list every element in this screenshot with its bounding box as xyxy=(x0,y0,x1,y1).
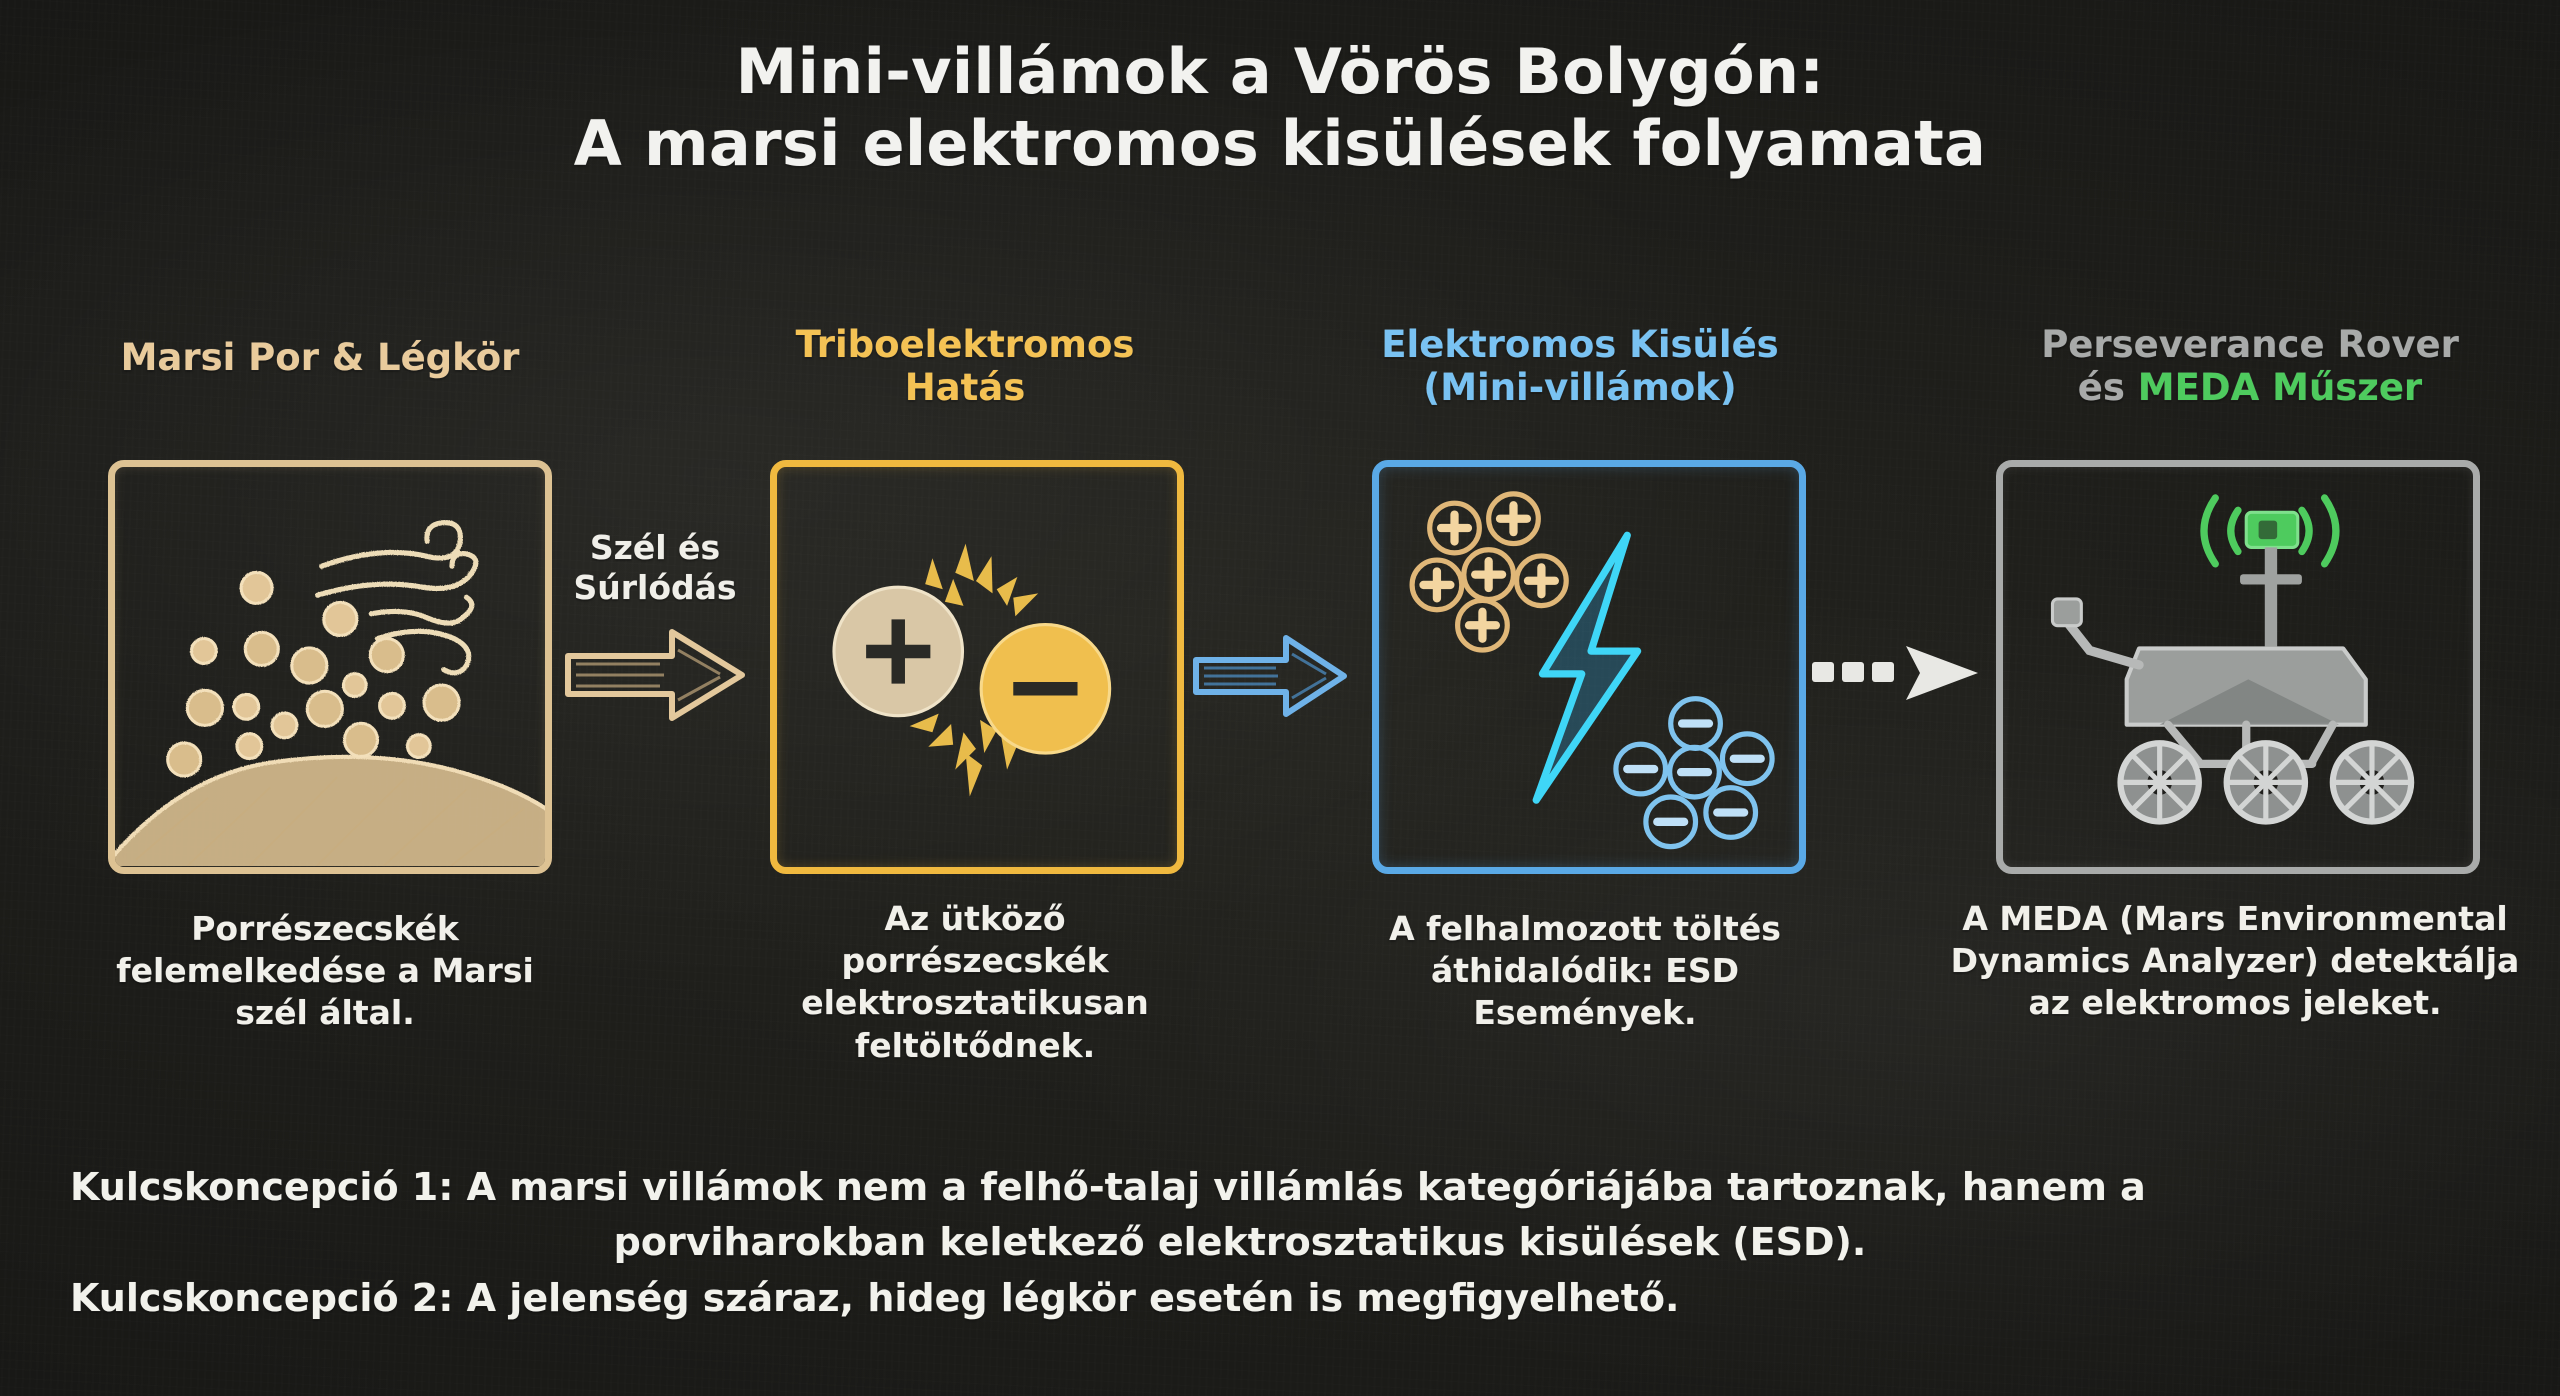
negative-charge-group xyxy=(1616,699,1772,847)
step-4-header-meda: MEDA Műszer xyxy=(2138,366,2422,409)
colliding-charged-particles-icon xyxy=(777,467,1177,867)
panel-perseverance-rover xyxy=(1996,460,2480,874)
step-4-header-line-2: és MEDA Műszer xyxy=(1955,366,2545,409)
step-1-header: Marsi Por & Légkör xyxy=(60,336,580,379)
rover-wheels xyxy=(2120,743,2411,821)
arrow-to-discharge-icon xyxy=(1190,630,1350,722)
step-2-caption: Az ütköző porrészecskék elektrosztatikus… xyxy=(755,898,1195,1067)
step-4-header-prefix: és xyxy=(2078,366,2138,409)
panel-triboelectric xyxy=(770,460,1184,874)
key-concept-1-line-2: porviharokban keletkező elektrosztatikus… xyxy=(40,1215,2440,1270)
chalkboard-canvas: Mini-villámok a Vörös Bolygón: A marsi e… xyxy=(0,0,2560,1396)
title-line-1: Mini-villámok a Vörös Bolygón: xyxy=(0,36,2560,108)
arrow-label-line-2: Súrlódás xyxy=(545,568,765,608)
step-2-header-line-2: Hatás xyxy=(745,366,1185,409)
step-4-header: Perseverance Rover és MEDA Műszer xyxy=(1955,323,2545,410)
step-3-header: Elektromos Kisülés (Mini-villámok) xyxy=(1345,323,1815,410)
page-title: Mini-villámok a Vörös Bolygón: A marsi e… xyxy=(0,36,2560,180)
key-concept-2: Kulcskoncepció 2: A jelenség száraz, hid… xyxy=(40,1271,2440,1326)
step-2-header-line-1: Triboelektromos xyxy=(745,323,1185,366)
key-concepts: Kulcskoncepció 1: A marsi villámok nem a… xyxy=(40,1160,2440,1326)
panel-dust-atmosphere xyxy=(108,460,552,874)
arrow-to-rover-icon xyxy=(1810,640,1985,706)
panel-electrostatic-discharge xyxy=(1372,460,1806,874)
step-3-header-line-1: Elektromos Kisülés xyxy=(1345,323,1815,366)
key-concept-1-line-1: Kulcskoncepció 1: A marsi villámok nem a… xyxy=(40,1160,2440,1215)
step-1-caption: Porrészecskék felemelkedése a Marsi szél… xyxy=(90,908,560,1035)
mars-rover-with-antenna-icon xyxy=(2003,467,2473,865)
arrow-wind-friction-label: Szél és Súrlódás xyxy=(545,528,765,607)
positive-charge-group xyxy=(1412,494,1566,650)
step-4-header-line-1: Perseverance Rover xyxy=(1955,323,2545,366)
step-2-header: Triboelektromos Hatás xyxy=(745,323,1185,410)
arrow-label-line-1: Szél és xyxy=(545,528,765,568)
title-line-2: A marsi elektromos kisülések folyamata xyxy=(0,108,2560,180)
dust-particles-wind-dune-icon xyxy=(115,467,545,866)
lightning-bolt-with-charges-icon xyxy=(1379,467,1799,866)
step-3-caption: A felhalmozott töltés áthidalódik: ESD E… xyxy=(1360,908,1810,1035)
arrow-wind-friction-icon xyxy=(560,620,750,730)
step-4-caption: A MEDA (Mars Environmental Dynamics Anal… xyxy=(1930,898,2540,1025)
step-3-header-line-2: (Mini-villámok) xyxy=(1345,366,1815,409)
